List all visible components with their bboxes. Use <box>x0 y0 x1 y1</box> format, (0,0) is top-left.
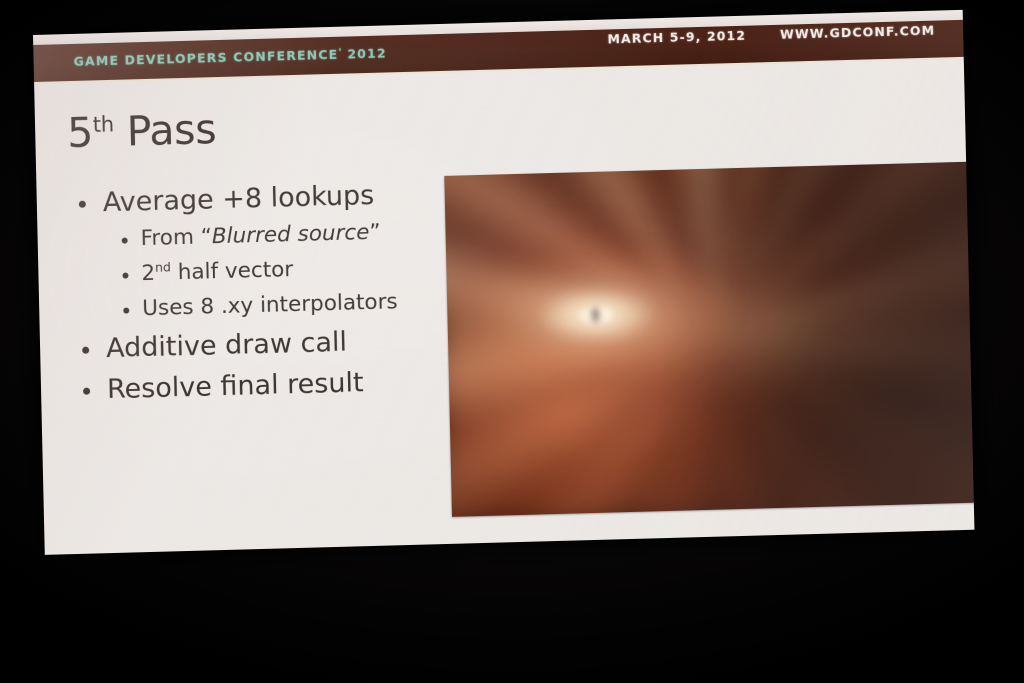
sub-bullet-rest: half vector <box>171 257 294 285</box>
bullet-item: Resolve final result <box>77 360 446 411</box>
conference-year: 2012 <box>347 45 387 61</box>
title-number: 5 <box>67 108 94 157</box>
sub-bullet-list: From “Blurred source” 2nd half vector Us… <box>73 214 443 328</box>
conference-website: WWW.GDCONF.COM <box>780 23 935 42</box>
conference-branding: GAME DEVELOPERS CONFERENCE° 2012 <box>73 45 386 68</box>
sub-bullet-prefix: From “ <box>140 224 212 251</box>
conference-dates: MARCH 5-9, 2012 <box>607 28 746 47</box>
slide-body: 5th Pass Average +8 lookups From “Blurre… <box>34 59 974 555</box>
title-ordinal-suffix: th <box>93 112 114 137</box>
page-title: 5th Pass <box>67 105 217 157</box>
light-burst-figure <box>444 161 974 516</box>
trademark-mark: ° <box>338 47 342 55</box>
sub-bullet-emphasis: Blurred source <box>212 220 370 249</box>
conference-name: GAME DEVELOPERS CONFERENCE <box>73 47 338 69</box>
sub-bullet-base: 2 <box>141 261 155 286</box>
sub-bullet-suffix: ” <box>369 220 381 245</box>
figure-center-pinch <box>589 305 601 325</box>
title-word: Pass <box>126 105 217 155</box>
slide-surface: GAME DEVELOPERS CONFERENCE° 2012 MARCH 5… <box>33 10 974 555</box>
screenshot-stage: GAME DEVELOPERS CONFERENCE° 2012 MARCH 5… <box>0 0 1024 683</box>
bullet-list: Average +8 lookups From “Blurred source”… <box>72 173 445 410</box>
sub-bullet-ordinal-suffix: nd <box>155 259 171 274</box>
projected-slide: GAME DEVELOPERS CONFERENCE° 2012 MARCH 5… <box>33 10 974 555</box>
